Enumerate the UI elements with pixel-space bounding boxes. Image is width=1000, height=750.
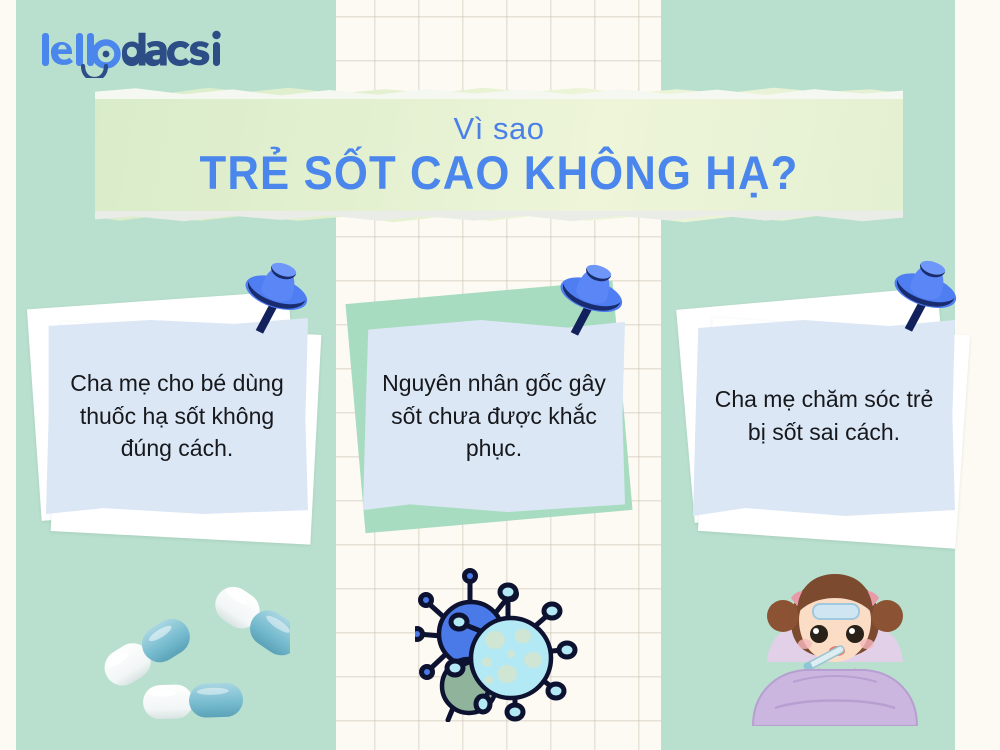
card-medication[interactable]: Cha mẹ cho bé dùng thuốc hạ sốt không đú… [30,258,330,558]
sick-child-in-bed-icon [745,558,925,726]
pushpin-icon [541,258,633,358]
capsule-pills-icon [95,572,290,727]
infographic-canvas: Vì sao TRẺ SỐT CAO KHÔNG HẠ? Cha mẹ cho … [0,0,1000,750]
title-kicker: Vì sao [454,113,545,144]
pushpin-icon [226,256,318,356]
card-root-cause[interactable]: Nguyên nhân gốc gây sốt chưa được khắc p… [355,258,645,558]
hellobacsi-logo[interactable] [40,30,240,78]
virus-germ-icon [415,562,580,722]
card-care[interactable]: Cha mẹ chăm sóc trẻ bị sốt sai cách. [675,258,975,558]
edge-strip-left [0,0,16,750]
title-headline: TRẺ SỐT CAO KHÔNG HẠ? [200,148,799,197]
title-banner: Vì sao TRẺ SỐT CAO KHÔNG HẠ? [95,85,903,225]
pushpin-icon [875,254,967,354]
